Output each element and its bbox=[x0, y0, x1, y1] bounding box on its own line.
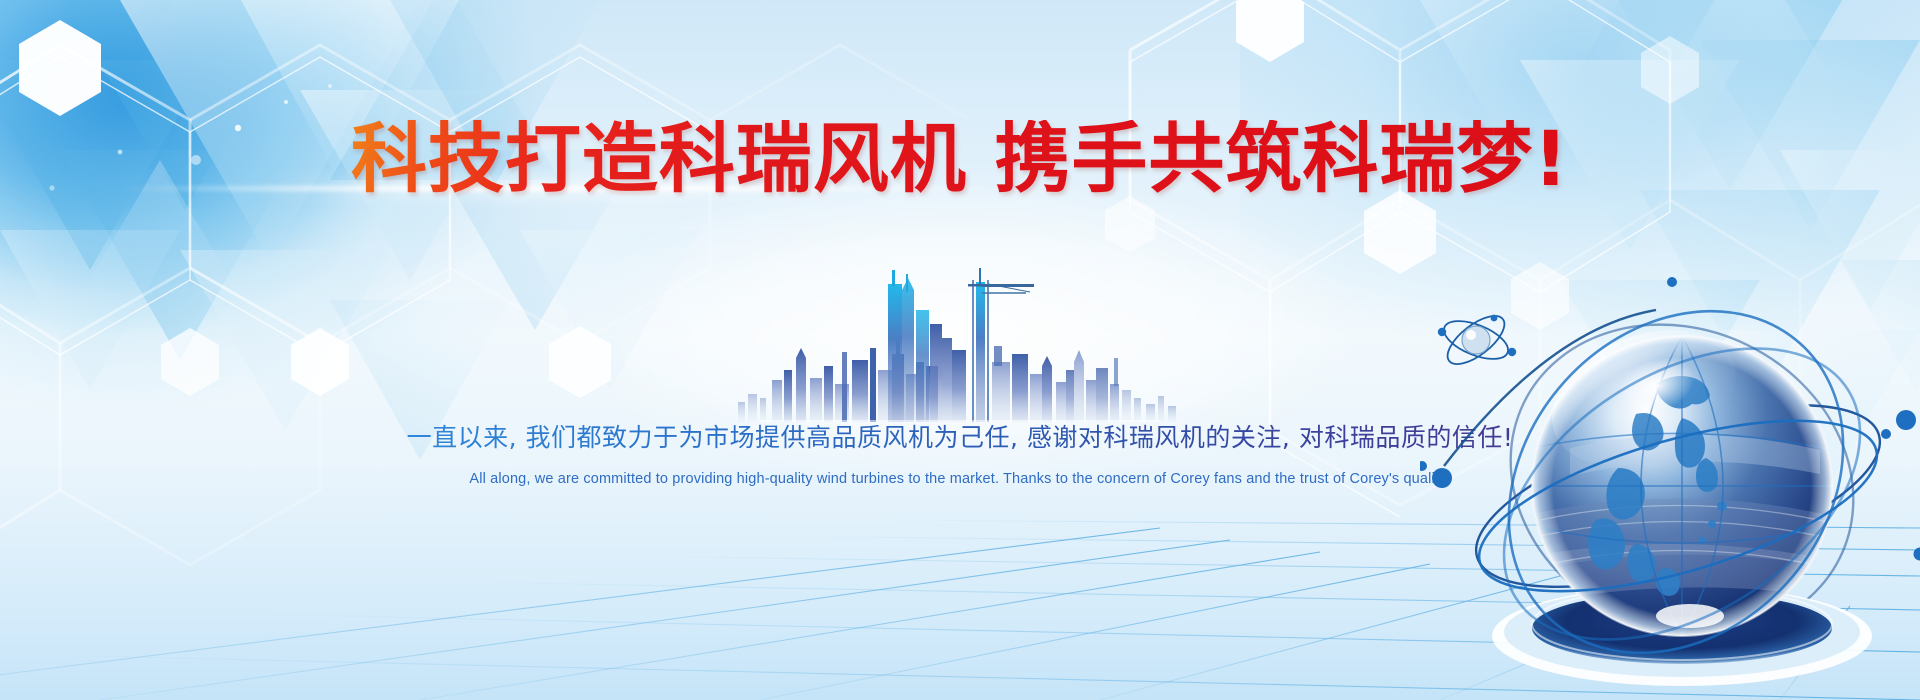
globe-atom-node bbox=[1438, 307, 1516, 373]
skyline-main-towers bbox=[888, 270, 952, 422]
subtitle-chinese: 一直以来, 我们都致力于为市场提供高品质风机为己任, 感谢对科瑞风机的关注, 对… bbox=[407, 418, 1514, 454]
glass-globe-graphic bbox=[1420, 268, 1920, 700]
skyline-center-right-buildings bbox=[952, 346, 1074, 422]
globe-sphere bbox=[1532, 305, 1832, 636]
page-title: 科技打造科瑞风机 携手共筑科瑞梦! bbox=[351, 120, 1569, 198]
headline-container: 科技打造科瑞风机 携手共筑科瑞梦! bbox=[0, 120, 1920, 198]
skyline-right-buildings bbox=[1074, 350, 1119, 422]
promo-banner: 科技打造科瑞风机 携手共筑科瑞梦! 一直以来, 我们都致力于为市场提供高品质风机… bbox=[0, 0, 1920, 700]
city-skyline-graphic bbox=[730, 262, 1190, 422]
skyline-left-buildings bbox=[772, 348, 849, 422]
